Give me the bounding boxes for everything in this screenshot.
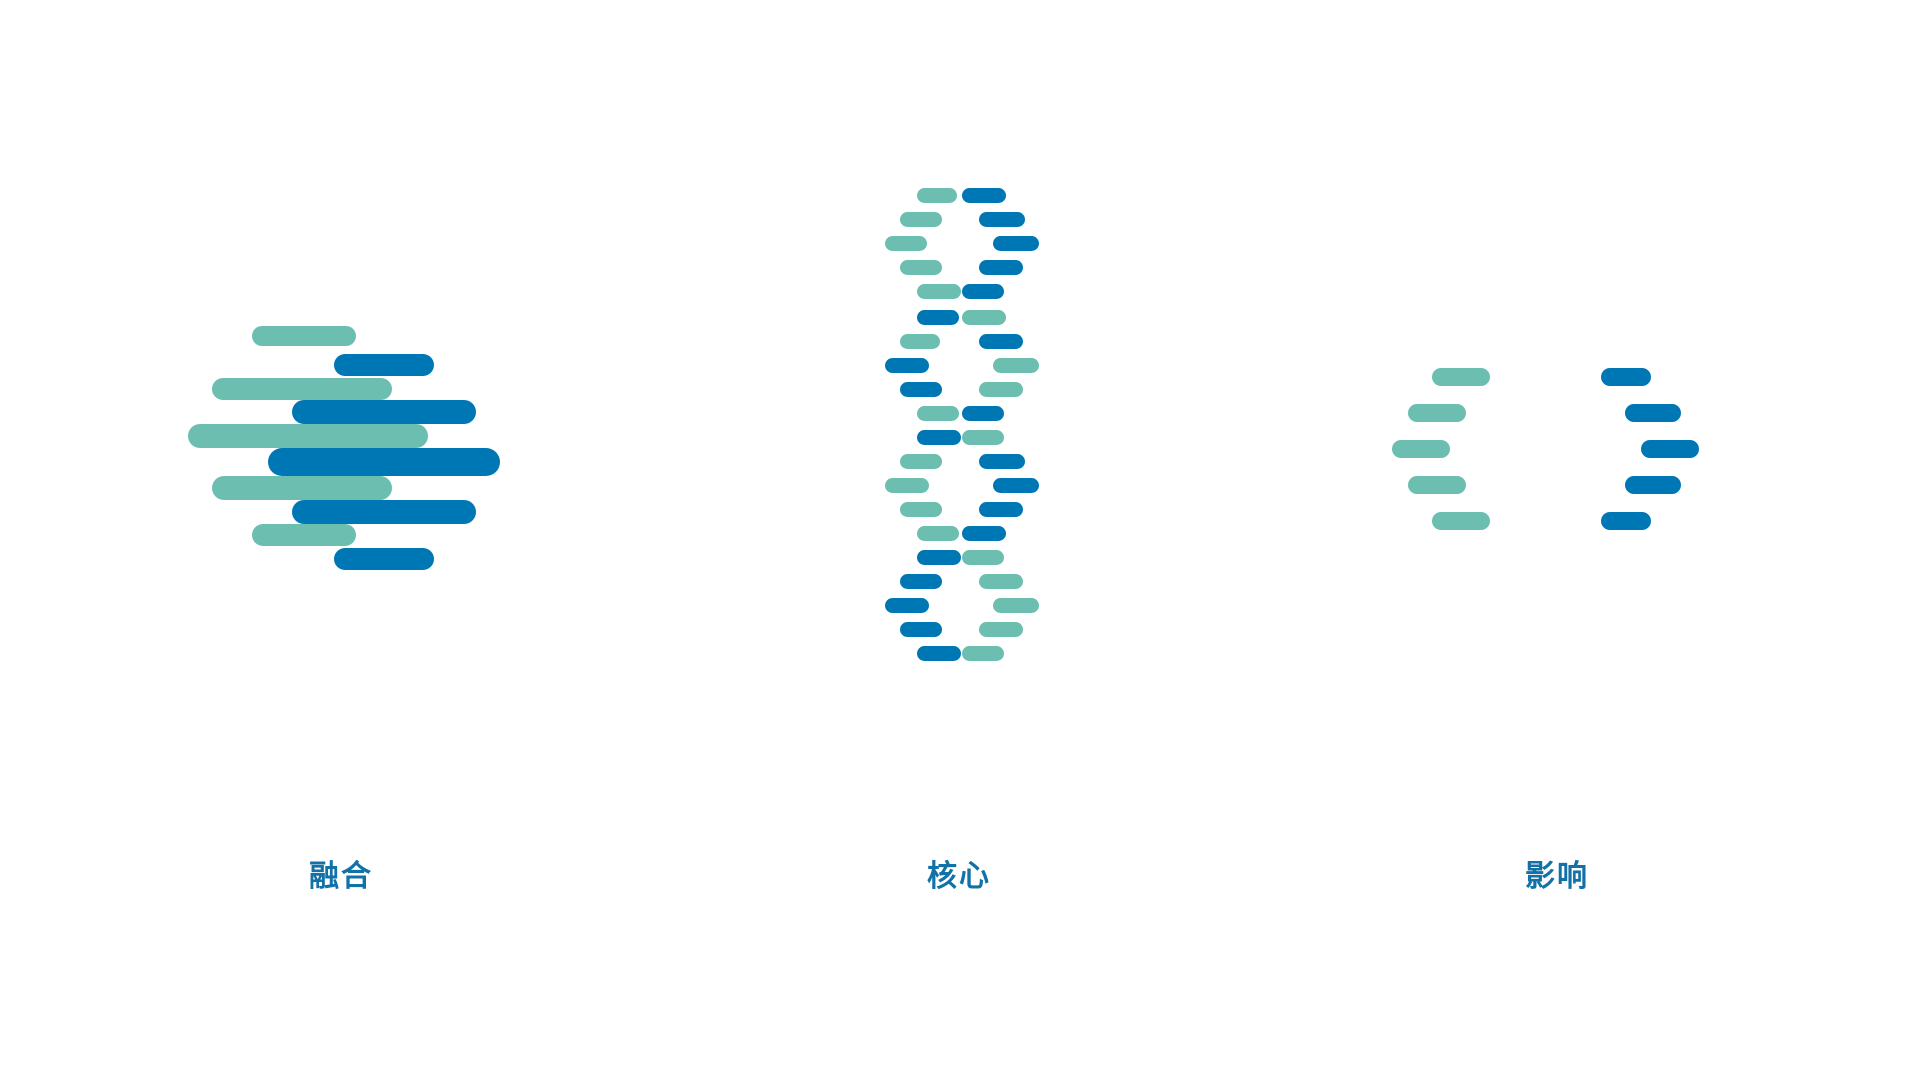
bar-impact-5-blue	[1641, 440, 1699, 458]
bar-impact-8-teal	[1432, 512, 1490, 530]
bar-impact-7-blue	[1625, 476, 1681, 494]
bar-impact-9-blue	[1601, 512, 1651, 530]
bar-impact-1-blue	[1601, 368, 1651, 386]
glyph-label-impact: 影响	[0, 862, 1920, 892]
bar-impact-4-teal	[1392, 440, 1450, 458]
diagram-canvas: 融合核心影响	[0, 0, 1920, 1080]
bar-impact-2-teal	[1408, 404, 1466, 422]
glyph-bars-impact	[0, 0, 1920, 760]
bar-impact-0-teal	[1432, 368, 1490, 386]
bar-impact-3-blue	[1625, 404, 1681, 422]
bar-impact-6-teal	[1408, 476, 1466, 494]
glyph-group-impact[interactable]: 影响	[0, 0, 1920, 1080]
